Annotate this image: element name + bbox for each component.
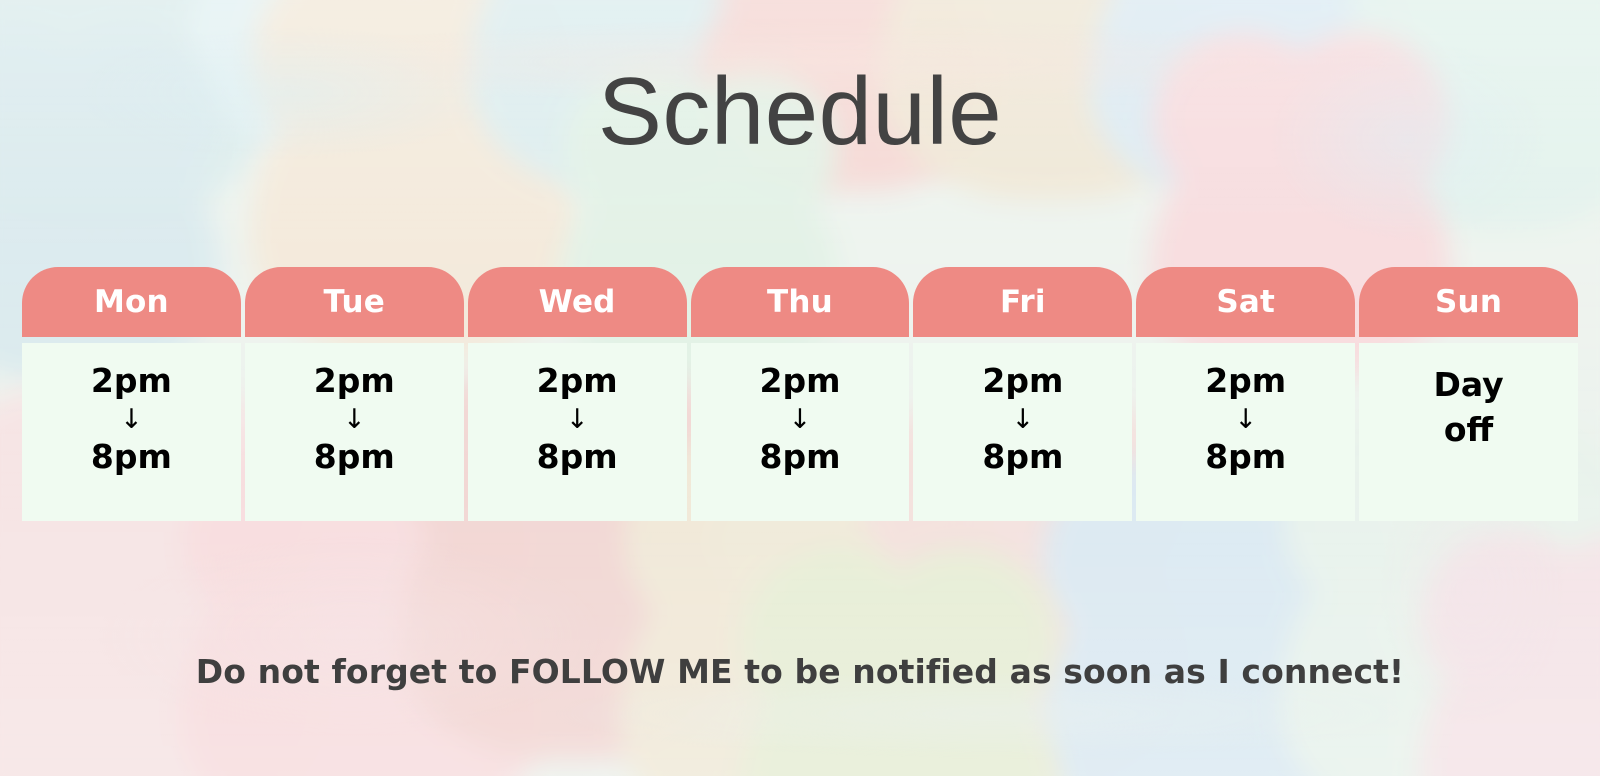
day-header-label: Mon — [94, 284, 169, 320]
day-cell-wed: 2pm↓8pm — [468, 343, 687, 521]
day-cell-sat: 2pm↓8pm — [1136, 343, 1355, 521]
day-header-label: Fri — [1000, 284, 1046, 320]
day-column-fri: Fri2pm↓8pm — [913, 267, 1132, 521]
day-header-fri[interactable]: Fri — [913, 267, 1132, 337]
day-header-tue[interactable]: Tue — [245, 267, 464, 337]
arrow-down-icon: ↓ — [789, 400, 812, 439]
day-cell-mon: 2pm↓8pm — [22, 343, 241, 521]
day-off-block: Dayoff — [1433, 363, 1503, 453]
day-column-mon: Mon2pm↓8pm — [22, 267, 241, 521]
shift-end-time: 8pm — [982, 439, 1063, 476]
shift-end-time: 8pm — [1205, 439, 1286, 476]
arrow-down-icon: ↓ — [1012, 400, 1035, 439]
day-header-label: Sat — [1216, 284, 1275, 320]
shift-start-time: 2pm — [314, 363, 395, 400]
arrow-down-icon: ↓ — [343, 400, 366, 439]
day-header-label: Sun — [1435, 284, 1502, 320]
schedule-graphic: Schedule Mon2pm↓8pmTue2pm↓8pmWed2pm↓8pmT… — [0, 0, 1600, 776]
shift-end-time: 8pm — [91, 439, 172, 476]
day-header-label: Wed — [539, 284, 616, 320]
day-header-wed[interactable]: Wed — [468, 267, 687, 337]
shift-start-time: 2pm — [1205, 363, 1286, 400]
day-cell-fri: 2pm↓8pm — [913, 343, 1132, 521]
day-header-mon[interactable]: Mon — [22, 267, 241, 337]
day-cell-thu: 2pm↓8pm — [691, 343, 910, 521]
arrow-down-icon: ↓ — [120, 400, 143, 439]
schedule-table: Mon2pm↓8pmTue2pm↓8pmWed2pm↓8pmThu2pm↓8pm… — [22, 267, 1578, 521]
day-column-sun: SunDayoff — [1359, 267, 1578, 521]
shift-start-time: 2pm — [91, 363, 172, 400]
day-off-line-1: Day — [1433, 363, 1503, 408]
shift-end-time: 8pm — [314, 439, 395, 476]
day-column-tue: Tue2pm↓8pm — [245, 267, 464, 521]
follow-me-note: Do not forget to FOLLOW ME to be notifie… — [0, 652, 1600, 691]
day-cell-sun: Dayoff — [1359, 343, 1578, 521]
day-column-sat: Sat2pm↓8pm — [1136, 267, 1355, 521]
day-column-wed: Wed2pm↓8pm — [468, 267, 687, 521]
shift-start-time: 2pm — [982, 363, 1063, 400]
day-header-sun[interactable]: Sun — [1359, 267, 1578, 337]
shift-end-time: 8pm — [760, 439, 841, 476]
shift-start-time: 2pm — [537, 363, 618, 400]
day-cell-tue: 2pm↓8pm — [245, 343, 464, 521]
day-off-line-2: off — [1444, 408, 1493, 453]
day-header-sat[interactable]: Sat — [1136, 267, 1355, 337]
arrow-down-icon: ↓ — [566, 400, 589, 439]
day-column-thu: Thu2pm↓8pm — [691, 267, 910, 521]
shift-start-time: 2pm — [760, 363, 841, 400]
arrow-down-icon: ↓ — [1234, 400, 1257, 439]
day-header-label: Tue — [324, 284, 385, 320]
shift-end-time: 8pm — [537, 439, 618, 476]
day-header-thu[interactable]: Thu — [691, 267, 910, 337]
page-title: Schedule — [0, 62, 1600, 163]
day-header-label: Thu — [767, 284, 833, 320]
